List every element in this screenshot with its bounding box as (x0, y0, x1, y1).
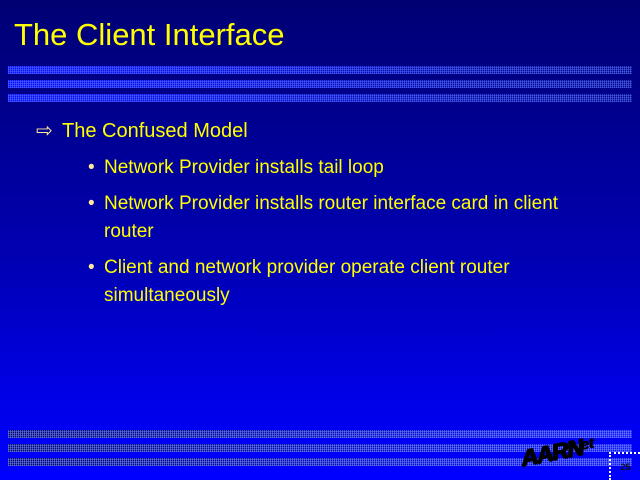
top-decorative-band-2 (8, 80, 632, 88)
bullet-heading-label: The Confused Model (62, 118, 248, 144)
top-decorative-band-1 (8, 66, 632, 74)
bullet-heading: ⇨ The Confused Model (0, 118, 640, 144)
list-item: • Client and network provider operate cl… (0, 254, 640, 310)
top-decorative-band-3 (8, 94, 632, 102)
presentation-slide: The Client Interface ⇨ The Confused Mode… (0, 0, 640, 480)
slide-title: The Client Interface (14, 16, 285, 54)
aarnet-logo-main-text: AARN (519, 434, 585, 472)
page-number-label: 25 (620, 462, 630, 472)
list-item: • Network Provider installs tail loop (0, 154, 640, 182)
list-item-label: Network Provider installs router interfa… (104, 190, 564, 246)
aarnet-logo: AARN et (524, 437, 616, 471)
aarnet-logo-suffix-text: et (579, 435, 595, 454)
list-item-label: Client and network provider operate clie… (104, 254, 564, 310)
list-item: • Network Provider installs router inter… (0, 190, 640, 246)
list-item-label: Network Provider installs tail loop (104, 154, 564, 182)
bullet-dot-icon: • (88, 154, 104, 182)
bullet-dot-icon: • (88, 190, 104, 218)
slide-body: ⇨ The Confused Model • Network Provider … (0, 118, 640, 318)
page-number-box: 25 (609, 452, 640, 480)
hollow-right-arrow-icon: ⇨ (36, 118, 62, 144)
bullet-dot-icon: • (88, 254, 104, 282)
